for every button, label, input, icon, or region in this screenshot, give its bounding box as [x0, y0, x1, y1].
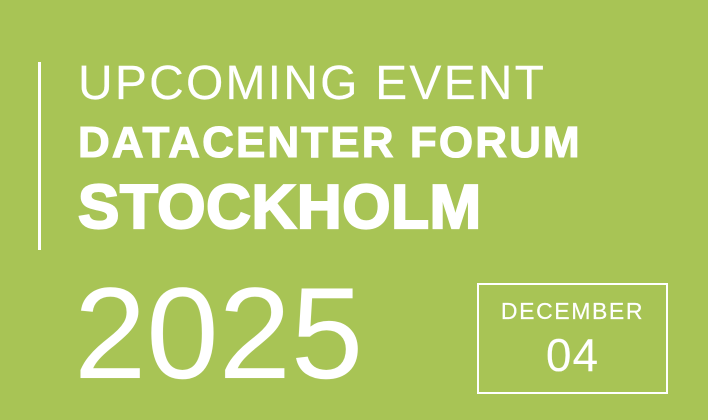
city-text: STOCKHOLM	[78, 173, 638, 243]
date-badge: DECEMBER 04	[477, 283, 668, 394]
date-day-label: 04	[546, 330, 599, 380]
kicker-text: UPCOMING EVENT	[78, 58, 638, 110]
event-banner: UPCOMING EVENT DATACENTER FORUM STOCKHOL…	[0, 0, 708, 420]
year-text: 2025	[74, 268, 363, 398]
vertical-accent-rule	[38, 62, 41, 250]
headline-block: UPCOMING EVENT DATACENTER FORUM STOCKHOL…	[78, 58, 638, 243]
event-name-text: DATACENTER FORUM	[78, 114, 638, 172]
date-month-label: DECEMBER	[501, 299, 644, 324]
